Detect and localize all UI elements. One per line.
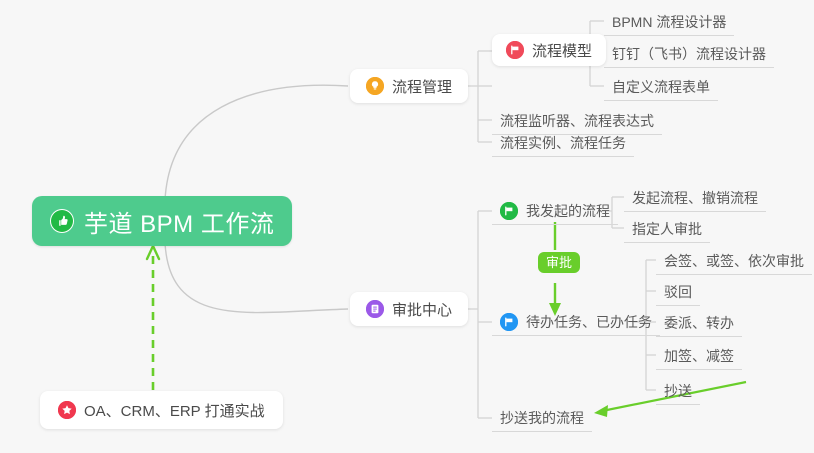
node-todo-done-tasks-label: 待办任务、已办任务 xyxy=(526,312,652,332)
leaf-add-remove-sign-label: 加签、减签 xyxy=(664,346,734,366)
flag-icon xyxy=(500,313,518,331)
node-process-model-label: 流程模型 xyxy=(532,40,592,61)
mindmap-canvas: 芋道 BPM 工作流 流程管理 流程模型 BPMN 流程设计器 钉钉（飞书）流程… xyxy=(0,0,814,453)
leaf-cc-label: 抄送 xyxy=(664,381,692,401)
node-oa-crm-erp-label: OA、CRM、ERP 打通实战 xyxy=(84,400,265,421)
approval-badge: 审批 xyxy=(538,252,580,273)
leaf-add-remove-sign[interactable]: 加签、减签 xyxy=(656,342,742,370)
leaf-custom-process-form[interactable]: 自定义流程表单 xyxy=(604,73,718,101)
flag-icon xyxy=(506,41,524,59)
leaf-multi-approval-label: 会签、或签、依次审批 xyxy=(664,251,804,271)
leaf-multi-approval[interactable]: 会签、或签、依次审批 xyxy=(656,247,812,275)
branch-approval-center-label: 审批中心 xyxy=(392,299,452,320)
leaf-start-cancel-process[interactable]: 发起流程、撤销流程 xyxy=(624,184,766,212)
node-my-initiated-label: 我发起的流程 xyxy=(526,201,610,221)
leaf-cc[interactable]: 抄送 xyxy=(656,377,700,405)
branch-process-management-label: 流程管理 xyxy=(392,76,452,97)
leaf-cc-to-me-label: 抄送我的流程 xyxy=(500,408,584,428)
leaf-dingtalk-feishu-designer[interactable]: 钉钉（飞书）流程设计器 xyxy=(604,40,774,68)
leaf-bpmn-designer[interactable]: BPMN 流程设计器 xyxy=(604,8,734,36)
leaf-start-cancel-process-label: 发起流程、撤销流程 xyxy=(632,188,758,208)
node-process-model[interactable]: 流程模型 xyxy=(492,34,606,66)
leaf-instance-task[interactable]: 流程实例、流程任务 xyxy=(492,129,634,157)
leaf-assigned-approval-label: 指定人审批 xyxy=(632,219,702,239)
flag-icon xyxy=(500,202,518,220)
connector-root-to-approval-center xyxy=(165,243,348,313)
node-todo-done-tasks[interactable]: 待办任务、已办任务 xyxy=(492,308,660,336)
branch-process-management[interactable]: 流程管理 xyxy=(350,69,468,103)
leaf-instance-task-label: 流程实例、流程任务 xyxy=(500,133,626,153)
leaf-delegate-transfer-label: 委派、转办 xyxy=(664,313,734,333)
leaf-listener-expression-label: 流程监听器、流程表达式 xyxy=(500,111,654,131)
leaf-custom-process-form-label: 自定义流程表单 xyxy=(612,77,710,97)
connector-root-to-process-management xyxy=(165,85,348,200)
branch-approval-center[interactable]: 审批中心 xyxy=(350,292,468,326)
leaf-reject-label: 驳回 xyxy=(664,282,692,302)
root-node[interactable]: 芋道 BPM 工作流 xyxy=(32,196,292,246)
leaf-reject[interactable]: 驳回 xyxy=(656,278,700,306)
node-oa-crm-erp[interactable]: OA、CRM、ERP 打通实战 xyxy=(40,391,283,429)
leaf-delegate-transfer[interactable]: 委派、转办 xyxy=(656,309,742,337)
node-my-initiated[interactable]: 我发起的流程 xyxy=(492,197,618,225)
clipboard-icon xyxy=(366,300,384,318)
approval-badge-label: 审批 xyxy=(546,255,572,270)
star-icon xyxy=(58,401,76,419)
root-label: 芋道 BPM 工作流 xyxy=(84,204,274,239)
leaf-assigned-approval[interactable]: 指定人审批 xyxy=(624,215,710,243)
lightbulb-icon xyxy=(366,77,384,95)
leaf-dingtalk-feishu-designer-label: 钉钉（飞书）流程设计器 xyxy=(612,44,766,64)
leaf-cc-to-me[interactable]: 抄送我的流程 xyxy=(492,404,592,432)
thumbs-up-icon xyxy=(50,209,74,233)
leaf-bpmn-designer-label: BPMN 流程设计器 xyxy=(612,12,726,32)
green-dashed-arrow-up xyxy=(147,246,159,390)
